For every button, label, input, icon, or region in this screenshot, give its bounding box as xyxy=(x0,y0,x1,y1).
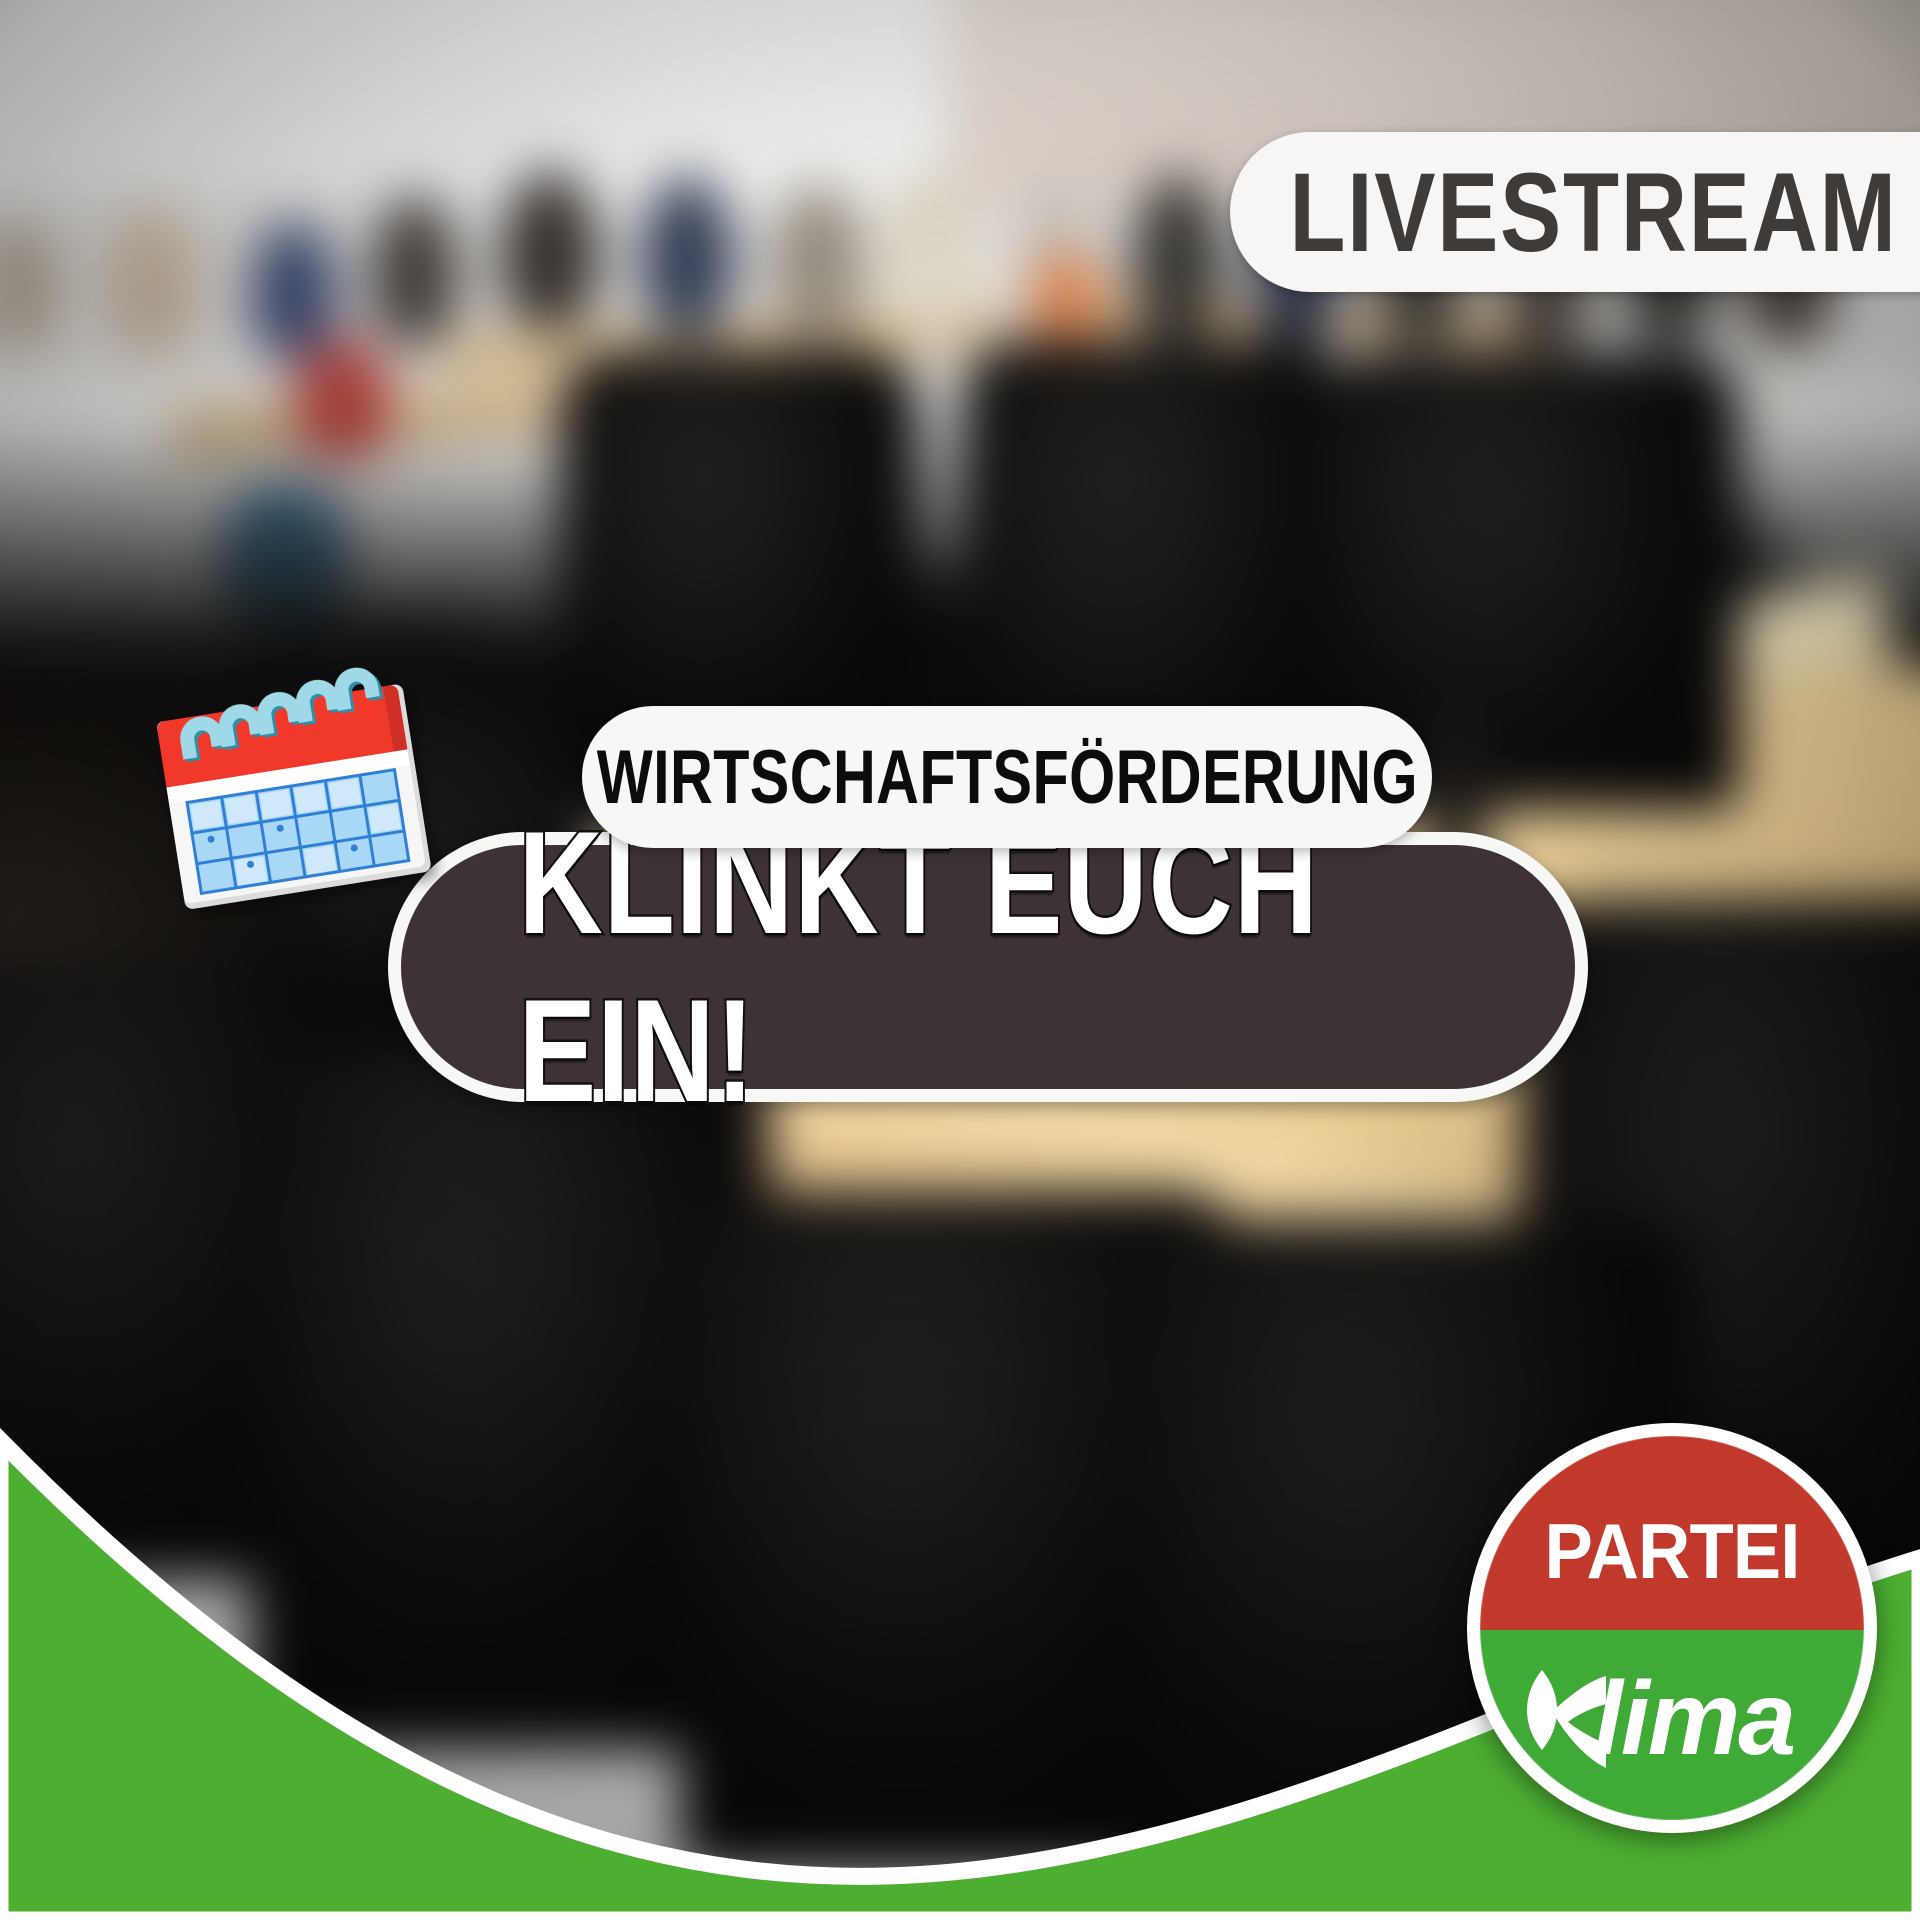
logo-klima-text: lima xyxy=(1594,1661,1794,1777)
logo-partei-text: PARTEI xyxy=(1545,1508,1800,1595)
partei-klima-logo[interactable]: PARTEI lima Klima xyxy=(1462,1418,1882,1838)
badge-topic-label: WIRTSCHAFTSFÖRDERUNG xyxy=(596,734,1417,821)
badge-headline-label: KLINKT EUCH EIN! xyxy=(518,799,1457,1135)
badge-headline[interactable]: KLINKT EUCH EIN! xyxy=(401,845,1575,1089)
logo-klima-full: Klima xyxy=(1462,1418,1502,1422)
badge-headline-outline: KLINKT EUCH EIN! xyxy=(388,832,1588,1102)
badge-livestream[interactable]: LIVESTREAM xyxy=(1230,132,1920,292)
badge-livestream-label: LIVESTREAM xyxy=(1289,148,1920,277)
badge-topic[interactable]: WIRTSCHAFTSFÖRDERUNG xyxy=(582,706,1432,848)
poster-canvas: LIVESTREAM xyxy=(0,0,1920,1920)
spiral-calendar-icon xyxy=(140,631,441,919)
